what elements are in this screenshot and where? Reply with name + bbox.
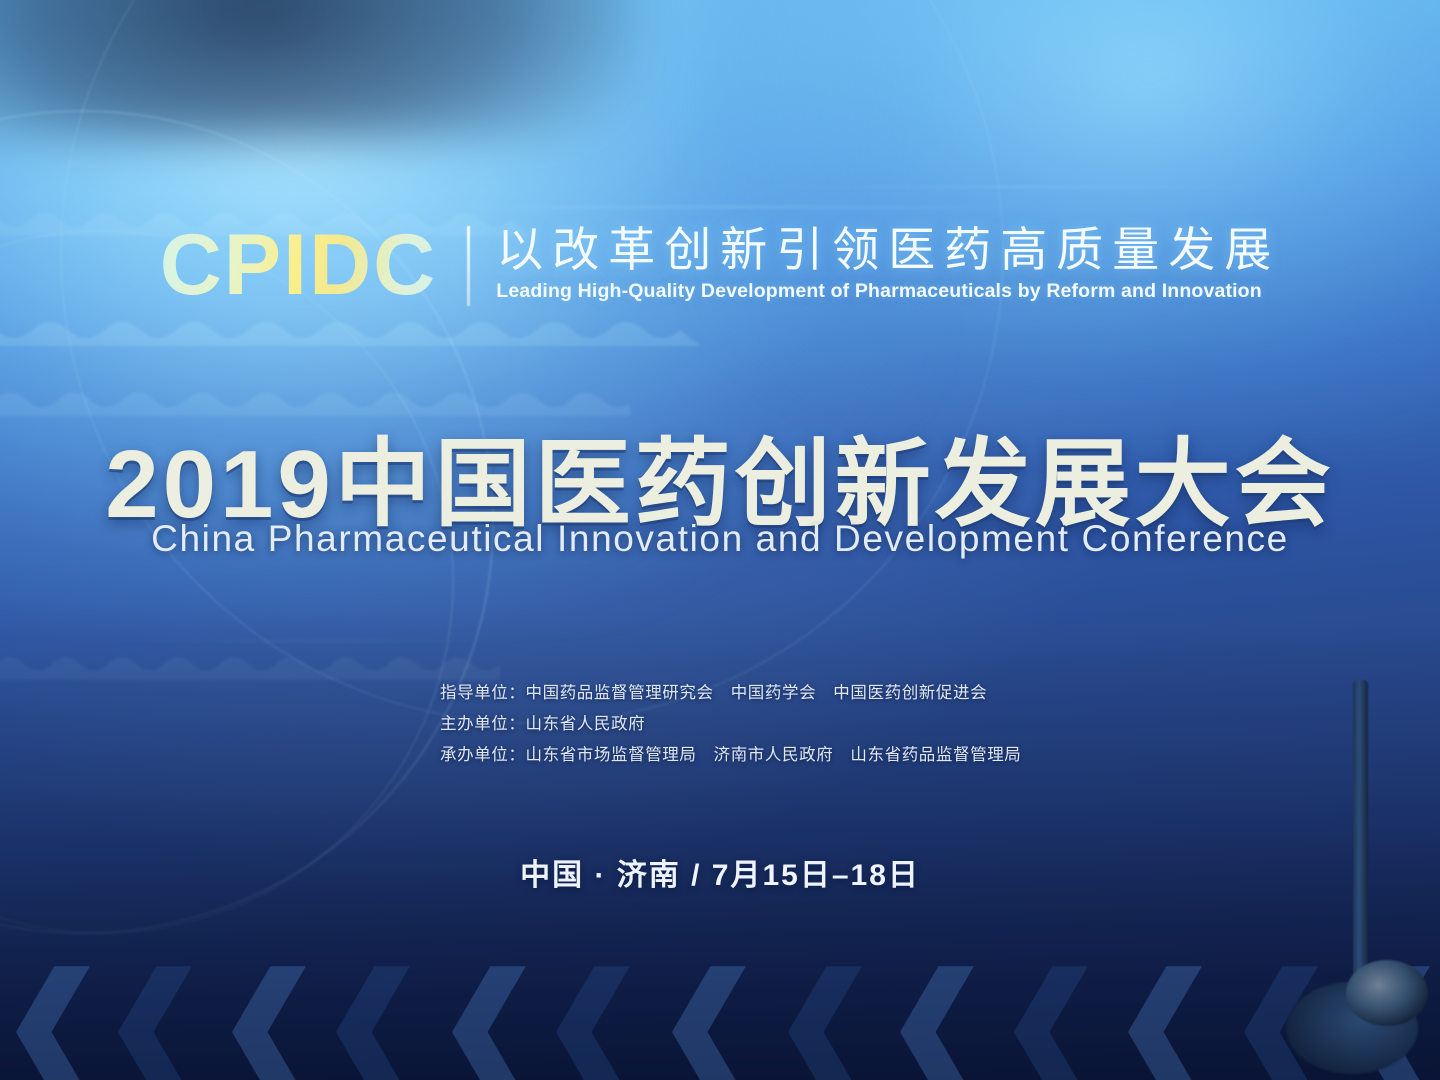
- slogan-english: Leading High-Quality Development of Phar…: [496, 280, 1280, 303]
- location-and-date: 中国 · 济南 / 7月15日–18日: [0, 850, 1440, 894]
- backdrop-content: CPIDC 以改革创新引领医药高质量发展 Leading High-Qualit…: [0, 0, 1440, 1080]
- credit-line-organizer: 承办单位：山东省市场监督管理局 济南市人民政府 山东省药品监督管理局: [440, 740, 1060, 771]
- logo-divider: [467, 226, 470, 306]
- logo-row: CPIDC 以改革创新引领医药高质量发展 Leading High-Qualit…: [0, 222, 1440, 308]
- conference-backdrop: CPIDC 以改革创新引领医药高质量发展 Leading High-Qualit…: [0, 0, 1440, 1080]
- slogan-block: 以改革创新引领医药高质量发展 Leading High-Quality Deve…: [496, 222, 1280, 303]
- organizer-credits: 指导单位：中国药品监督管理研究会 中国药学会 中国医药创新促进会 主办单位：山东…: [440, 678, 1060, 771]
- credit-line-guidance: 指导单位：中国药品监督管理研究会 中国药学会 中国医药创新促进会: [440, 678, 1060, 709]
- slogan-chinese: 以改革创新引领医药高质量发展: [496, 224, 1280, 276]
- cpidc-logo-text: CPIDC: [160, 222, 446, 308]
- conference-title-english: China Pharmaceutical Innovation and Deve…: [0, 518, 1440, 560]
- credit-line-host: 主办单位：山东省人民政府: [440, 709, 1060, 740]
